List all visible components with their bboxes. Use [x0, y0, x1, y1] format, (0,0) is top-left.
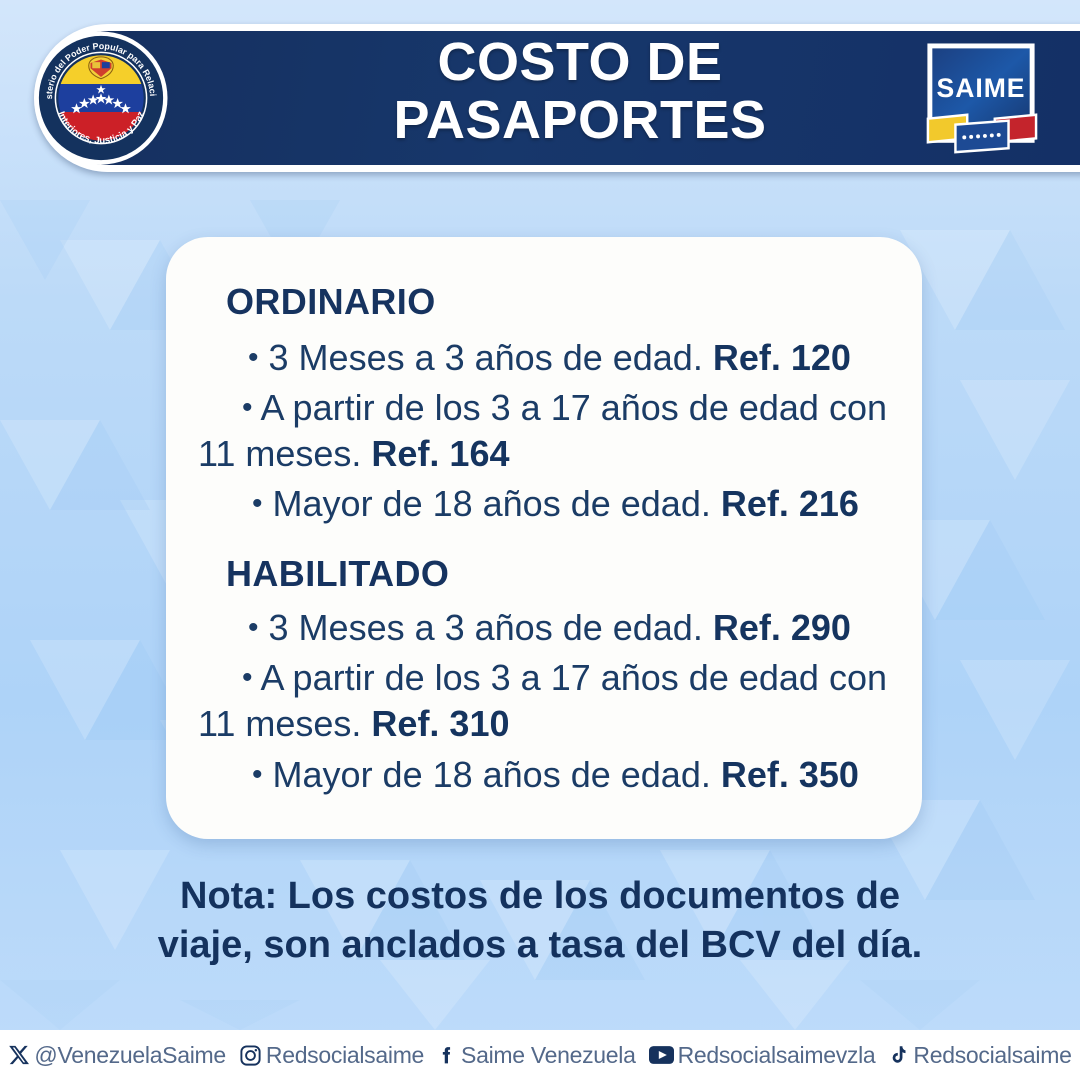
social-handle: Redsocialsaime	[266, 1042, 424, 1069]
list-item-text: 3 Meses a 3 años de edad.	[269, 607, 703, 648]
list-item: • Mayor de 18 años de edad. Ref. 350	[196, 752, 892, 798]
page-title-line1: COSTO DE	[300, 34, 860, 92]
social-link-instagram[interactable]: Redsocialsaime	[239, 1042, 424, 1069]
info-card: ORDINARIO • 3 Meses a 3 años de edad. Re…	[166, 237, 922, 839]
social-footer-bar: @VenezuelaSaime Redsocialsaime Saime Ven…	[0, 1030, 1080, 1080]
youtube-icon	[649, 1045, 674, 1065]
ministry-seal-icon: Ministerio del Poder Popular para Relaci…	[22, 28, 180, 168]
bullet-icon: •	[252, 487, 263, 520]
note-label: Nota:	[180, 875, 277, 917]
price-ref: Ref. 216	[721, 483, 859, 524]
social-handle: Redsocialsaime	[913, 1042, 1071, 1069]
saime-logo-label: SAIME	[937, 73, 1026, 103]
list-item-text: A partir de los 3 a 17 años de edad con …	[198, 387, 887, 474]
list-item-text: Mayor de 18 años de edad.	[273, 483, 711, 524]
social-link-tiktok[interactable]: Redsocialsaime	[888, 1042, 1071, 1069]
instagram-icon	[239, 1044, 262, 1067]
section-title-habilitado: HABILITADO	[226, 553, 892, 595]
price-ref: Ref. 120	[713, 337, 851, 378]
list-item-text: Mayor de 18 años de edad.	[273, 754, 711, 795]
list-item: • A partir de los 3 a 17 años de edad co…	[196, 655, 892, 747]
price-list-ordinario: • 3 Meses a 3 años de edad. Ref. 120 • A…	[196, 335, 892, 527]
section-title-ordinario: ORDINARIO	[226, 281, 892, 323]
bullet-icon: •	[242, 391, 253, 424]
price-ref: Ref. 290	[713, 607, 851, 648]
list-item: • Mayor de 18 años de edad. Ref. 216	[196, 481, 892, 527]
page-title-line2: PASAPORTES	[300, 92, 860, 150]
social-handle: Saime Venezuela	[461, 1042, 636, 1069]
bullet-icon: •	[248, 611, 259, 644]
social-link-facebook[interactable]: Saime Venezuela	[437, 1042, 636, 1069]
x-twitter-icon	[8, 1044, 30, 1066]
social-handle: Redsocialsaimevzla	[678, 1042, 876, 1069]
price-list-habilitado: • 3 Meses a 3 años de edad. Ref. 290 • A…	[196, 605, 892, 797]
note-line2: viaje, son anclados a tasa del BCV del d…	[90, 921, 990, 970]
list-item: • 3 Meses a 3 años de edad. Ref. 120	[196, 335, 892, 381]
note-line1: Nota: Los costos de los documentos de	[90, 872, 990, 921]
social-link-youtube[interactable]: Redsocialsaimevzla	[649, 1042, 876, 1069]
price-ref: Ref. 164	[371, 433, 509, 474]
price-ref: Ref. 310	[371, 703, 509, 744]
tiktok-icon	[888, 1044, 909, 1066]
saime-logo-icon: SAIME	[922, 40, 1040, 162]
bullet-icon: •	[242, 661, 253, 694]
bullet-icon: •	[248, 341, 259, 374]
bullet-icon: •	[252, 758, 263, 791]
list-item-text: A partir de los 3 a 17 años de edad con …	[198, 657, 887, 744]
facebook-icon	[437, 1044, 457, 1066]
social-handle: @VenezuelaSaime	[34, 1042, 225, 1069]
note-line1-text: Los costos de los documentos de	[277, 875, 900, 917]
list-item: • 3 Meses a 3 años de edad. Ref. 290	[196, 605, 892, 651]
note-text: Nota: Los costos de los documentos de vi…	[90, 872, 990, 969]
page-title: COSTO DE PASAPORTES	[300, 34, 860, 150]
price-ref: Ref. 350	[721, 754, 859, 795]
list-item: • A partir de los 3 a 17 años de edad co…	[196, 385, 892, 477]
social-link-x[interactable]: @VenezuelaSaime	[8, 1042, 225, 1069]
list-item-text: 3 Meses a 3 años de edad.	[269, 337, 703, 378]
